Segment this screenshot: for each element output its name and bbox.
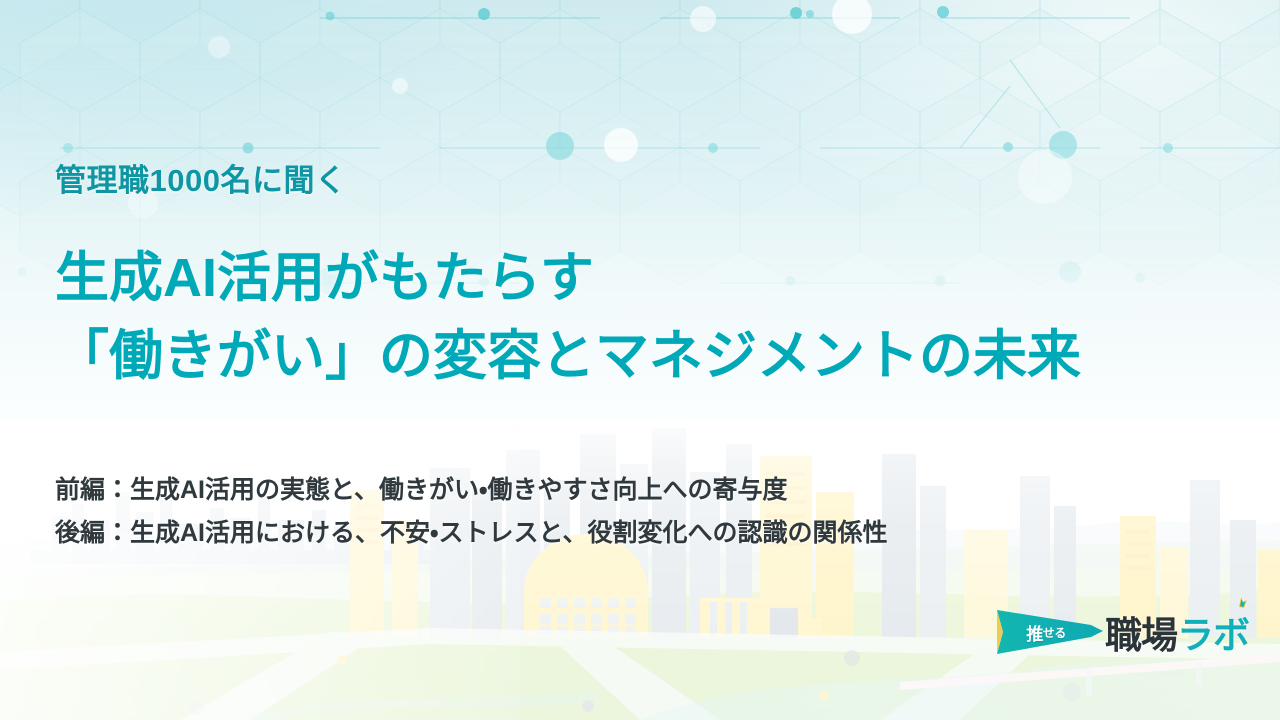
slide-content: 管理職1000名に聞く 生成AI活用がもたらす 「働きがい」の変容とマネジメント…: [0, 0, 1280, 720]
sparkle-icon: [1234, 596, 1248, 610]
subtitle-line-1: 前編：生成AI活用の実態と、働きがい・働きやすさ向上への寄与度: [55, 470, 788, 506]
subtitle-line-2: 後編：生成AI活用における、不安・ストレスと、役割変化への認識の関係性: [55, 513, 888, 549]
eyebrow-text: 管理職1000名に聞く: [55, 155, 346, 200]
logo-ribbon-badge: 推せる: [995, 608, 1107, 656]
logo-word-teal-text: ラボ: [1177, 615, 1249, 656]
logo-badge-main: 推: [1026, 620, 1043, 645]
slide: 管理職1000名に聞く 生成AI活用がもたらす 「働きがい」の変容とマネジメント…: [0, 0, 1280, 720]
brand-logo[interactable]: 推せる 職場 ラボ: [995, 606, 1249, 658]
page-title-line-2: 「働きがい」の変容とマネジメントの未来: [55, 326, 1081, 386]
page-title-line-1: 生成AI活用がもたらす: [55, 248, 594, 308]
logo-badge-sub: せる: [1043, 624, 1066, 641]
logo-word-dark: 職場: [1105, 605, 1177, 659]
logo-word-teal: ラボ: [1177, 605, 1249, 659]
logo-badge-text: 推せる: [995, 608, 1107, 656]
